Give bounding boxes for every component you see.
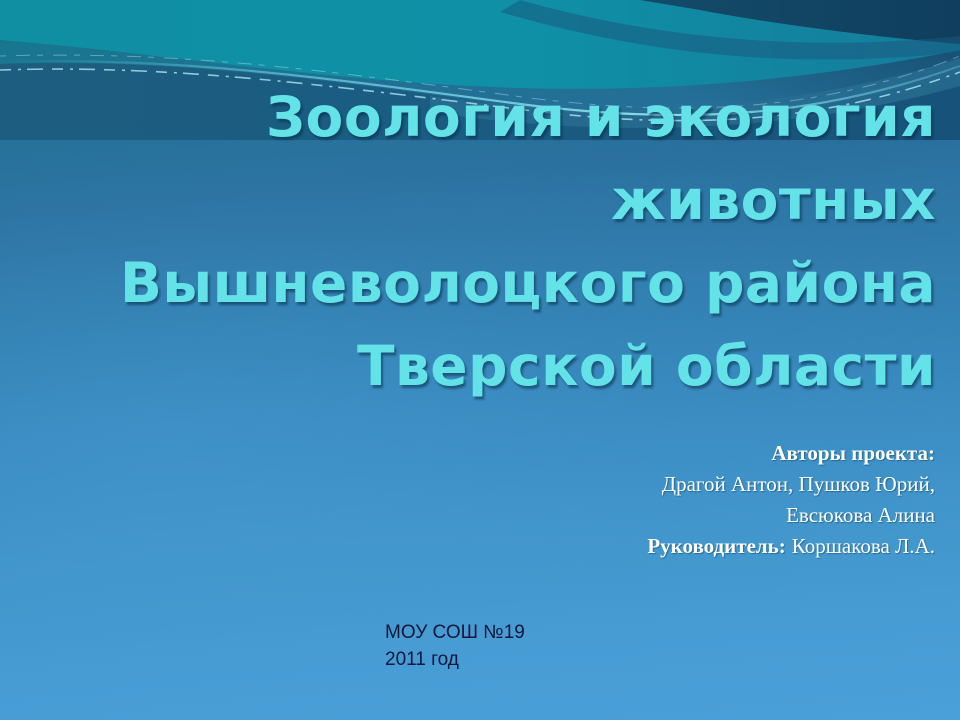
authors-label: Авторы проекта: [375,438,935,469]
supervisor-name: Коршакова Л.А. [792,534,935,558]
authors-line-2: Евсюкова Алина [375,500,935,531]
footer-school: МОУ СОШ №19 [385,619,525,646]
page-title: Зоология и экология животных Вышневолоцк… [40,76,936,408]
subtitle-authors-block: Авторы проекта: Драгой Антон, Пушков Юри… [375,438,935,562]
wave-band-navy-corner [640,0,960,44]
title-line-2: животных [40,159,936,242]
title-line-3: Вышневолоцкого района [40,242,936,325]
title-line-4: Тверской области [40,325,936,408]
footer-block: МОУ СОШ №19 2011 год [385,619,525,673]
supervisor-label: Руководитель: [647,534,785,558]
wave-arc-upper-right [500,0,960,60]
title-line-1: Зоология и экология [40,76,936,159]
authors-line-1: Драгой Антон, Пушков Юрий, [375,469,935,500]
footer-year: 2011 год [385,646,525,673]
title-slide: Зоология и экология животных Вышневолоцк… [0,0,960,720]
